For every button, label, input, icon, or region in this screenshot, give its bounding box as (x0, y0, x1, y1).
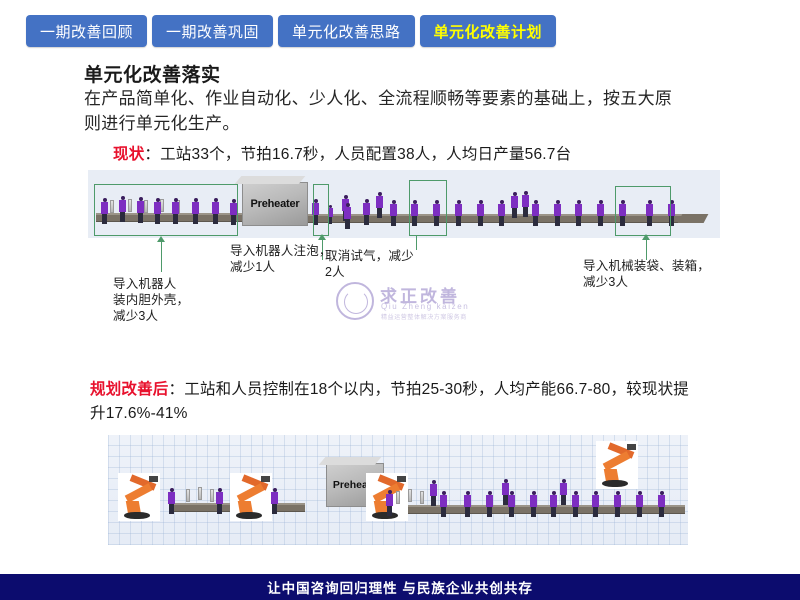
footer-slogan: 让中国咨询回归理性 与民族企业共创共存 (267, 577, 533, 597)
current-state-label: 现状 (113, 146, 144, 163)
callout-auto-bagging: 导入机械装袋、装箱， 减少3人 (583, 258, 710, 290)
line-worker (508, 491, 515, 517)
line-worker (530, 491, 537, 517)
line-worker (614, 491, 621, 517)
tab-label: 一期改善巩固 (166, 21, 259, 42)
callout-leader-robot-inner-shell (161, 240, 162, 272)
line-worker (522, 191, 529, 217)
line-worker (390, 200, 397, 226)
line-worker (363, 199, 370, 225)
line-fixture (210, 489, 214, 502)
line-worker (511, 192, 518, 218)
highlight-box-robot-inner-shell (94, 184, 238, 236)
line-worker (455, 200, 462, 226)
callout-robot-inner-shell: 导入机器人 装内胆外壳， 减少3人 (113, 276, 189, 324)
highlight-box-robot-foaming (313, 184, 329, 236)
line-worker (554, 200, 561, 226)
preheater-label: Preheater (251, 198, 300, 210)
line-worker (271, 488, 278, 514)
current-state-line-diagram: Preheater (88, 170, 720, 238)
line-fixture (198, 487, 202, 500)
current-state-line: 现状：工站33个，节拍16.7秒，人员配置38人，人均日产量56.7台 (113, 142, 571, 164)
highlight-box-cancel-air-test (409, 180, 447, 236)
line-worker (440, 491, 447, 517)
current-state-separator: ： (144, 146, 160, 163)
line-worker (477, 200, 484, 226)
tab-cell-improvement-approach[interactable]: 单元化改善思路 (278, 15, 415, 47)
robot-arm (230, 473, 272, 521)
page-title: 单元化改善落实 (84, 60, 221, 87)
preheater-machine: Preheater (242, 182, 308, 226)
line-fixture (186, 489, 190, 502)
tab-label: 单元化改善思路 (292, 21, 401, 42)
tab-label: 单元化改善计划 (434, 21, 543, 42)
future-state-line-diagram: Preheate (108, 435, 688, 545)
watermark-name-en: Qiu Zheng kaizen (381, 302, 469, 311)
callout-leader-cancel-air-test (416, 236, 417, 250)
callout-arrow-robot-inner-shell (157, 236, 165, 242)
callout-arrow-robot-foaming (318, 234, 326, 240)
tab-cell-improvement-plan[interactable]: 单元化改善计划 (420, 15, 557, 47)
future-state-label: 规划改善后 (90, 381, 169, 398)
conveyor-end (678, 214, 709, 223)
line-worker (430, 480, 437, 506)
line-worker (592, 491, 599, 517)
line-worker (498, 200, 505, 226)
line-fixture (408, 489, 412, 502)
current-state-text: 工站33个，节拍16.7秒，人员配置38人，人均日产量56.7台 (160, 146, 571, 163)
line-worker (575, 200, 582, 226)
line-worker (376, 192, 383, 218)
line-worker (216, 488, 223, 514)
line-fixture (420, 491, 424, 504)
watermark-ring-icon (336, 282, 374, 320)
line-worker (636, 491, 643, 517)
lead-paragraph: 在产品简单化、作业自动化、少人化、全流程顺畅等要素的基础上，按五大原则进行单元化… (84, 86, 684, 136)
callout-cancel-air-test: 取消试气，减少 2人 (325, 248, 414, 280)
slide-canvas: 一期改善回顾 一期改善巩固 单元化改善思路 单元化改善计划 单元化改善落实 在产… (0, 0, 800, 600)
tab-bar: 一期改善回顾 一期改善巩固 单元化改善思路 单元化改善计划 (26, 15, 556, 47)
line-worker (386, 490, 393, 516)
line-worker (168, 488, 175, 514)
line-worker (486, 491, 493, 517)
tab-label: 一期改善回顾 (40, 21, 133, 42)
line-worker (344, 203, 351, 229)
machine-top-face (235, 176, 306, 184)
robot-arm (118, 473, 160, 521)
callout-arrow-auto-bagging (642, 234, 650, 240)
tab-phase1-review[interactable]: 一期改善回顾 (26, 15, 147, 47)
robot-arm (596, 441, 638, 489)
line-worker (532, 200, 539, 226)
future-state-separator: ： (169, 381, 185, 398)
line-worker (464, 491, 471, 517)
line-worker (572, 491, 579, 517)
watermark-logo: 求正改善 Qiu Zheng kaizen 精益运营整体解决方案服务商 (336, 278, 486, 326)
callout-leader-auto-bagging (646, 238, 647, 260)
highlight-box-auto-bagging (615, 186, 671, 236)
future-state-line: 规划改善后：工站和人员控制在18个以内，节拍25-30秒，人均产能66.7-80… (90, 378, 700, 426)
line-worker (550, 491, 557, 517)
watermark-tagline: 精益运营整体解决方案服务商 (381, 312, 467, 321)
footer-bar: 让中国咨询回归理性 与民族企业共创共存 (0, 574, 800, 600)
line-worker (560, 479, 567, 505)
line-worker (597, 200, 604, 226)
line-worker (658, 491, 665, 517)
machine-top-face (319, 457, 382, 465)
tab-phase1-consolidation[interactable]: 一期改善巩固 (152, 15, 273, 47)
callout-robot-foaming: 导入机器人注泡， 减少1人 (230, 243, 332, 275)
line-fixture (396, 491, 400, 504)
